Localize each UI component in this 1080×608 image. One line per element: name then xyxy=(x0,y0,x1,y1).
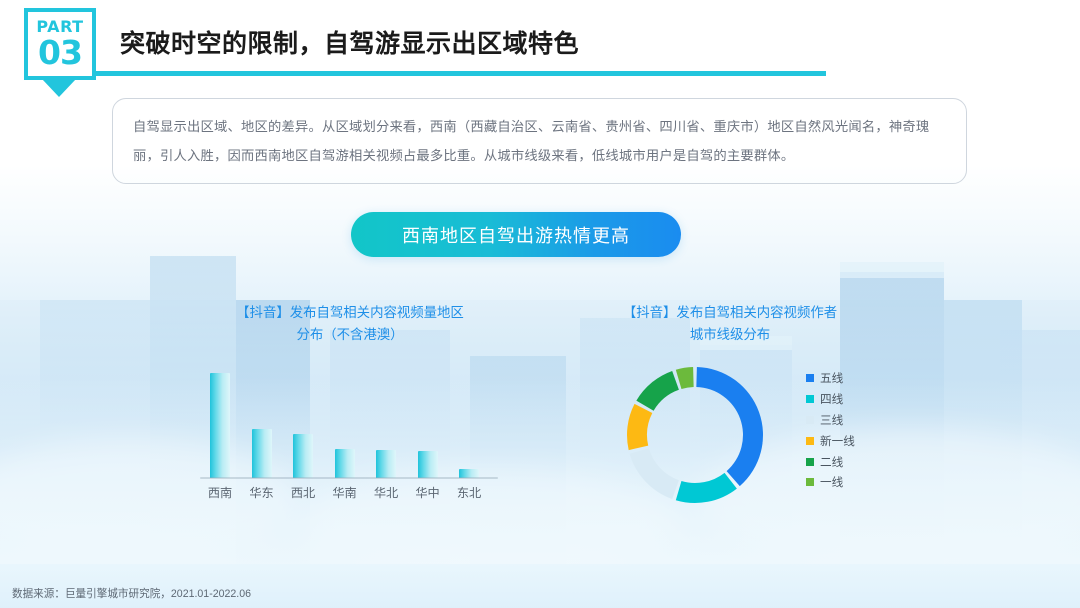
bar-chart-category-labels: 西南华东西北华南华北华中东北 xyxy=(200,483,498,503)
summary-note-box: 自驾显示出区域、地区的差异。从区域划分来看，西南（西藏自治区、云南省、贵州省、四… xyxy=(112,98,967,184)
bar-chart-title: 【抖音】发布自驾相关内容视频量地区 分布（不含港澳） xyxy=(190,302,510,346)
bar xyxy=(252,429,272,478)
part-number: 03 xyxy=(38,36,82,69)
bar-column xyxy=(252,429,272,478)
donut-segment xyxy=(636,371,679,411)
legend-label: 新一线 xyxy=(820,433,855,449)
legend-item[interactable]: 二线 xyxy=(806,451,896,472)
donut-chart-title-line1: 【抖音】发布自驾相关内容视频作者 xyxy=(580,302,880,324)
page-title: 突破时空的限制，自驾游显示出区域特色 xyxy=(120,24,579,60)
bar-category-label: 西北 xyxy=(283,483,323,501)
bar-category-label: 西南 xyxy=(200,483,240,501)
bar-chart-axis xyxy=(200,477,498,479)
legend-label: 一线 xyxy=(820,474,843,490)
legend-label: 二线 xyxy=(820,454,843,470)
bar-category-label: 华中 xyxy=(408,483,448,501)
legend-swatch-icon xyxy=(806,374,814,382)
donut-segment xyxy=(627,404,652,450)
bar-column xyxy=(418,451,438,478)
donut-chart-title: 【抖音】发布自驾相关内容视频作者 城市线级分布 xyxy=(580,302,880,346)
bar-chart-plot xyxy=(204,368,494,478)
bar-column xyxy=(335,449,355,478)
bar-column xyxy=(376,450,396,478)
donut-segment xyxy=(630,448,679,499)
bar xyxy=(335,449,355,478)
background-building-roof xyxy=(840,262,944,278)
part-badge: PART 03 xyxy=(24,8,96,80)
legend-swatch-icon xyxy=(806,458,814,466)
header-rule xyxy=(96,71,826,76)
legend-item[interactable]: 五线 xyxy=(806,368,896,389)
donut-svg xyxy=(622,362,768,508)
bar-category-label: 华东 xyxy=(242,483,282,501)
donut-segment xyxy=(676,473,737,503)
slide-canvas: PART 03 突破时空的限制，自驾游显示出区域特色 自驾显示出区域、地区的差异… xyxy=(0,0,1080,608)
bar xyxy=(418,451,438,478)
legend-swatch-icon xyxy=(806,416,814,424)
donut-segment xyxy=(696,367,763,486)
legend-label: 五线 xyxy=(820,370,843,386)
bar-chart-title-line2: 分布（不含港澳） xyxy=(190,324,510,346)
bar xyxy=(293,434,313,478)
legend-item[interactable]: 一线 xyxy=(806,472,896,493)
bar-category-label: 华北 xyxy=(366,483,406,501)
bar-column xyxy=(210,373,230,478)
legend-swatch-icon xyxy=(806,395,814,403)
bar-column xyxy=(293,434,313,478)
highlight-pill: 西南地区自驾出游热情更高 xyxy=(351,212,681,257)
legend-label: 四线 xyxy=(820,391,843,407)
donut-chart-title-line2: 城市线级分布 xyxy=(580,324,880,346)
bar-category-label: 华南 xyxy=(325,483,365,501)
donut-segment xyxy=(676,367,694,389)
part-badge-pointer-icon xyxy=(42,79,76,97)
bar-chart-title-line1: 【抖音】发布自驾相关内容视频量地区 xyxy=(190,302,510,324)
legend-swatch-icon xyxy=(806,478,814,486)
donut-chart-legend: 五线四线三线新一线二线一线 xyxy=(806,368,896,493)
legend-item[interactable]: 四线 xyxy=(806,389,896,410)
source-note: 数据来源：巨量引擎城市研究院，2021.01-2022.06 xyxy=(12,586,251,601)
legend-label: 三线 xyxy=(820,412,843,428)
highlight-pill-label: 西南地区自驾出游热情更高 xyxy=(402,222,630,248)
legend-item[interactable]: 新一线 xyxy=(806,430,896,451)
donut-chart-plot xyxy=(622,362,768,508)
summary-note-text: 自驾显示出区域、地区的差异。从区域划分来看，西南（西藏自治区、云南省、贵州省、四… xyxy=(133,112,951,170)
legend-swatch-icon xyxy=(806,437,814,445)
bar xyxy=(376,450,396,478)
bar-category-label: 东北 xyxy=(449,483,489,501)
bar xyxy=(210,373,230,478)
legend-item[interactable]: 三线 xyxy=(806,410,896,431)
